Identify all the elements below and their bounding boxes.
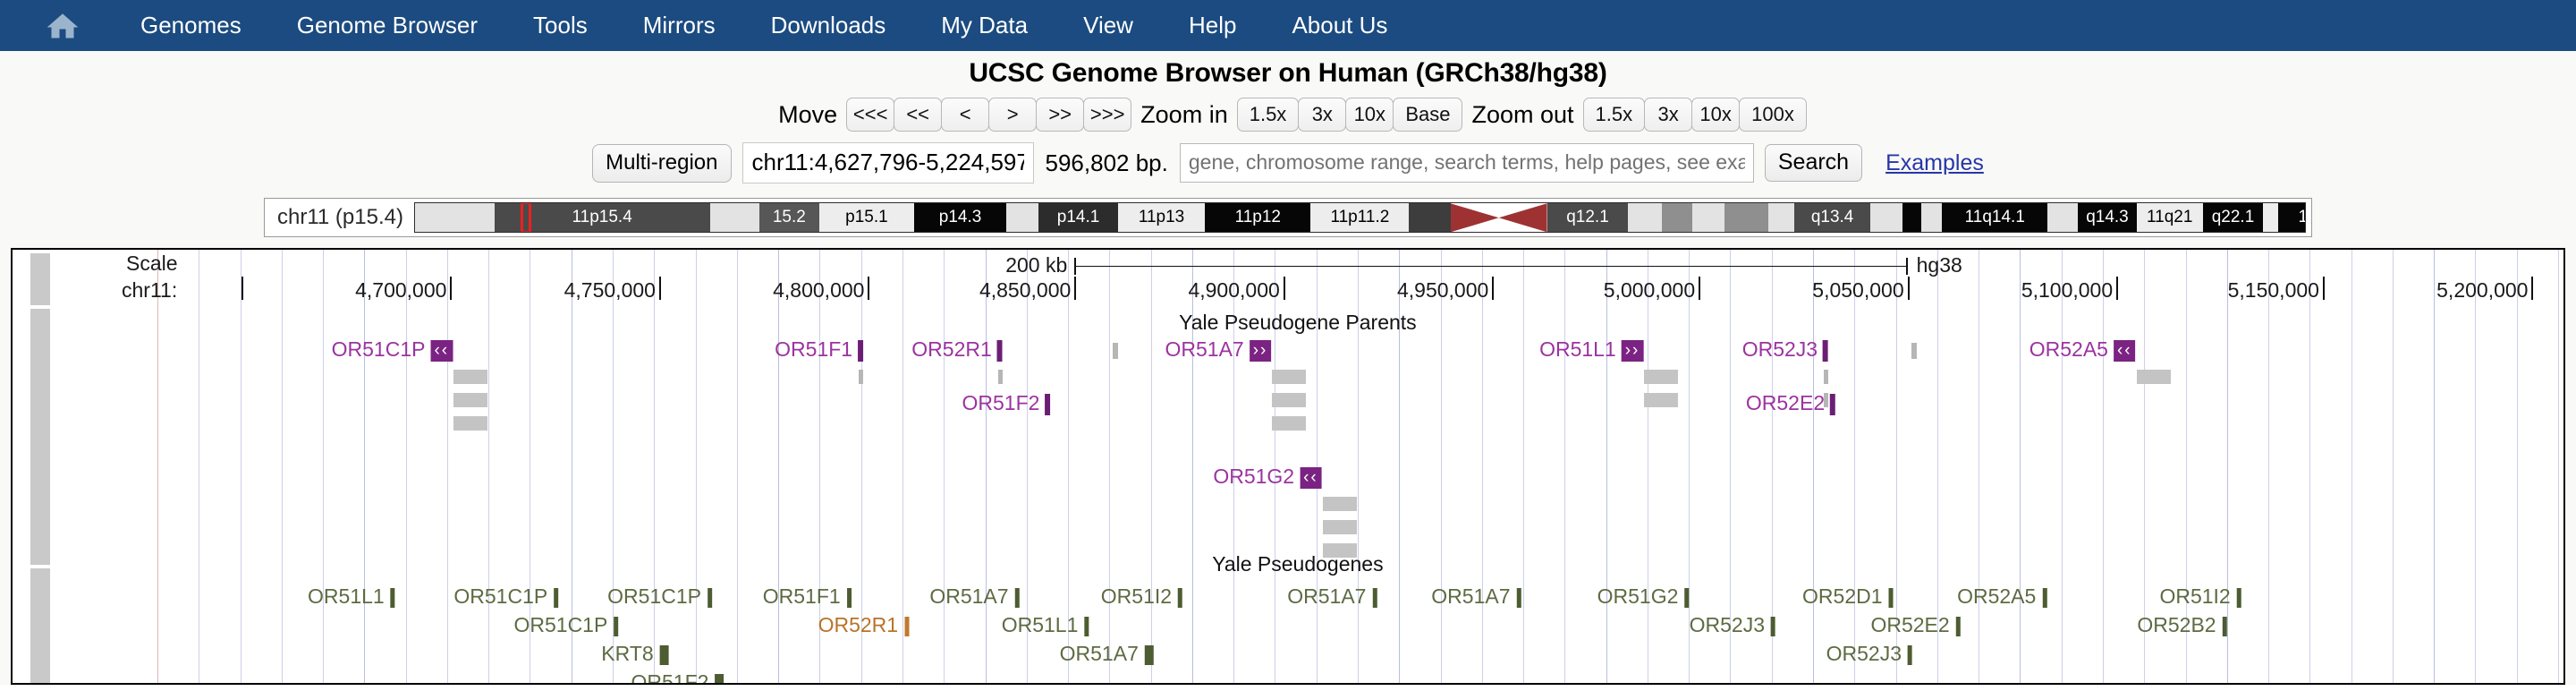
pseudogene-bar [1015,588,1020,608]
ruler-tick-mark [659,277,661,300]
pseudogene-label: OR52J3 [1826,642,1902,665]
pseudogene-label: OR51F1 [763,584,841,608]
ideogram-band-q13.4: q13.4 [1794,203,1870,232]
examples-link[interactable]: Examples [1885,150,1984,176]
zoom-in-button-1.5x[interactable]: 1.5x [1237,98,1300,132]
ideogram-band [415,203,495,232]
ideogram-band [1662,203,1692,232]
ideogram-band [1724,203,1768,232]
alignment-block [1644,393,1678,407]
multi-region-button[interactable]: Multi-region [592,144,731,183]
pseudogene-feature-or52e2[interactable]: OR52E2 [1870,613,1960,637]
ideogram-bands[interactable]: 11p15.415.2p15.1p14.3p14.111p1311p1211p1… [414,202,2306,233]
grid-line [737,250,738,683]
drag-handle-pseudogene-parents[interactable] [30,309,50,565]
pseudogene-label: OR52B2 [2137,613,2216,636]
grid-line [1854,250,1855,683]
pseudogene-feature-or51f1[interactable]: OR51F1 [763,584,852,609]
ideogram-band-11q21: 11q21 [2137,203,2203,232]
pseudogene-bar [660,645,669,665]
pseudogene-bar [1889,588,1894,608]
grid-line [1606,250,1607,683]
gene-tick-bar [1830,394,1835,415]
grid-line [364,250,365,683]
ruler-tick-label: 5,050,000 [1812,278,1903,303]
pseudogene-bar [1956,617,1961,636]
ruler-tick-mark [1699,277,1700,300]
pseudogene-label: OR51A7 [929,584,1008,608]
gene-feature-or52a5[interactable]: OR52A5‹‹ [2029,337,2136,362]
top-navigation-bar: GenomesGenome BrowserToolsMirrorsDownloa… [0,0,2576,51]
grid-line [2103,250,2104,683]
gene-feature-or51l1[interactable]: OR51L1›› [1539,337,1643,362]
gene-feature-or52e2[interactable]: OR52E2 [1746,391,1835,415]
grid-line [1151,250,1152,683]
pseudogene-feature-or51a7[interactable]: OR51A7 [1287,584,1377,609]
pseudogene-feature-or52j3[interactable]: OR52J3 [1826,642,1912,666]
gene-label: OR52J3 [1742,337,1823,361]
ruler-tick-label: 4,750,000 [564,278,656,303]
pseudogene-label: OR52R1 [818,613,898,636]
alignment-block [1272,416,1306,431]
gene-feature-tick[interactable] [1113,337,1118,362]
zoom-in-button-group: 1.5x3x10xBase [1237,98,1463,132]
pseudogene-label: OR51L1 [1002,613,1079,636]
zoom-out-button-3x[interactable]: 3x [1644,98,1692,132]
move-button-x[interactable]: > [988,98,1037,132]
pseudogene-bar [1908,645,1912,665]
zoom-out-button-1.5x[interactable]: 1.5x [1583,98,1646,132]
nav-item-genomes[interactable]: Genomes [113,12,269,39]
gene-tick-bar [1045,394,1050,415]
alignment-block [2137,370,2171,384]
zoom-out-button-10x[interactable]: 10x [1691,98,1740,132]
search-button[interactable]: Search [1765,144,1862,182]
ruler-tick-mark [1492,277,1494,300]
grid-line [323,250,324,683]
ideogram-band [1768,203,1795,232]
alignment-block [1644,370,1678,384]
ruler-tick-label: 5,000,000 [1604,278,1695,303]
pseudogene-label: OR51F2 [631,670,708,685]
pseudogene-label: OR52J3 [1690,613,1765,636]
alignment-block [1323,520,1357,534]
ruler-tick-mark [450,277,452,300]
nav-item-my-data[interactable]: My Data [913,12,1055,39]
pseudogene-bar [1145,645,1154,665]
ideogram-band [1902,203,1921,232]
alignment-block [1824,370,1828,384]
ideogram-band [1692,203,1724,232]
ideogram-band-11q22.3: 11q22.3 [2278,203,2306,232]
gene-tick-bar [858,340,863,362]
pseudogene-label: OR51G2 [1597,584,1679,608]
pseudogene-bar [391,588,395,608]
ideogram-band-11p13: 11p13 [1118,203,1205,232]
pseudogene-bar [554,588,558,608]
ruler-tick-mark [241,277,243,300]
nav-item-mirrors[interactable]: Mirrors [615,12,743,39]
ideogram-band [1870,203,1902,232]
ideogram-band-q12.1: q12.1 [1547,203,1629,232]
pseudogene-feature-or51g2[interactable]: OR51G2 [1597,584,1690,609]
ideogram-band-11p12: 11p12 [1205,203,1310,232]
pseudogene-bar [2237,588,2241,608]
chrom-label: chr11: [122,278,177,303]
pseudogene-label: OR51I2 [1101,584,1172,608]
pseudogene-bar [847,588,852,608]
ideogram-band [1628,203,1662,232]
pseudogene-feature-krt8[interactable]: KRT8 [601,642,668,666]
zoom-in-label: Zoom in [1131,101,1237,129]
pseudogene-label: OR51A7 [1287,584,1366,608]
alignment-block [453,416,487,431]
gene-label: OR52R1 [911,337,996,361]
grid-line [2309,250,2310,683]
alignment-block [1272,393,1306,407]
ruler-tick-mark [868,277,869,300]
gene-label: OR51G2 [1213,465,1300,488]
scale-label: Scale [126,252,178,276]
grid-line [696,250,697,683]
grid-line [778,250,779,683]
scale-bar-text: 200 kb [1005,253,1067,277]
page-title: UCSC Genome Browser on Human (GRCh38/hg3… [0,51,2576,89]
drag-handle-pseudogenes[interactable] [30,568,50,683]
move-button-xx[interactable]: >> [1036,98,1084,132]
pseudogene-feature-or52a5[interactable]: OR52A5 [1957,584,2046,609]
ruler-tick-label: 4,800,000 [773,278,864,303]
gene-label: OR52E2 [1746,391,1830,414]
gene-label: OR51C1P [332,337,431,361]
gene-feature-or51g2[interactable]: OR51G2‹‹ [1213,465,1321,489]
grid-line [1813,250,1814,683]
gene-exon-box: ›› [1250,340,1272,362]
gene-feature-or51f1[interactable]: OR51F1 [775,337,863,362]
gene-feature-or52r1[interactable]: OR52R1 [911,337,1002,362]
grid-line [447,250,448,683]
pseudogene-bar [614,617,618,636]
alignment-block [859,370,863,384]
pseudogene-feature-or51c1p[interactable]: OR51C1P [513,613,618,637]
scale-bar [1074,266,1907,267]
grid-line [1109,250,1110,683]
ruler-tick-label: 5,200,000 [2436,278,2528,303]
ideogram-band-11q14.1: 11q14.1 [1942,203,2047,232]
ideogram-band [710,203,759,232]
grid-line [241,250,241,683]
track-left-separator [157,250,158,683]
navigation-controls-row: Move <<<<<<>>>>>> Zoom in 1.5x3x10xBase … [0,98,2576,132]
pseudogene-label: OR51C1P [607,584,701,608]
ruler-tick-mark [1908,277,1910,300]
grid-line [2062,250,2063,683]
gene-label: OR51F2 [962,391,1046,414]
alignment-block [453,393,487,407]
ideogram-band [1006,203,1038,232]
nav-items: GenomesGenome BrowserToolsMirrorsDownloa… [113,12,1415,39]
pseudogene-bar [1771,617,1775,636]
grid-line [2020,250,2021,683]
ideogram-band-p14.3: p14.3 [914,203,1007,232]
pseudogene-bar [2042,588,2046,608]
ideogram-band [2263,203,2278,232]
move-button-xxx[interactable]: >>> [1083,98,1131,132]
zoom-out-button-100x[interactable]: 100x [1739,98,1807,132]
ruler-tick-mark [1074,277,1076,300]
gene-exon-box: ‹‹ [430,340,453,362]
ideogram-band [1409,203,1450,232]
ruler-tick-mark [2323,277,2325,300]
scale-ruler: Scale chr11: 200 kb hg38 4,700,0004,750,… [13,250,2563,312]
pseudogene-feature-or52r1[interactable]: OR52R1 [818,613,909,637]
grid-line [2393,250,2394,683]
ruler-tick-label: 4,700,000 [355,278,446,303]
grid-line [986,250,987,683]
ideogram-position-marker [521,202,531,233]
nav-item-genome-browser[interactable]: Genome Browser [269,12,505,39]
pseudogene-label: KRT8 [601,642,653,665]
pseudogene-feature-or51c1p[interactable]: OR51C1P [607,584,712,609]
pseudogene-bar [1517,588,1521,608]
ruler-tick-label: 5,100,000 [2021,278,2113,303]
pseudogene-label: OR52E2 [1870,613,1949,636]
grid-line [1564,250,1565,683]
pseudogene-feature-or51f2[interactable]: OR51F2 [631,670,724,685]
nav-item-help[interactable]: Help [1161,12,1264,39]
grid-line [282,250,283,683]
pseudogene-feature-or51l1[interactable]: OR51L1 [1002,613,1089,637]
gene-exon-box: ‹‹ [2114,340,2136,362]
move-label: Move [769,101,846,129]
ideogram-band [1921,203,1942,232]
move-button-xxx[interactable]: <<< [846,98,894,132]
alignment-block [453,370,487,384]
ruler-tick-label: 4,950,000 [1397,278,1488,303]
grid-line [654,250,655,683]
ideogram-band-q22.1: q22.1 [2203,203,2264,232]
genome-track-panel[interactable]: Scale chr11: 200 kb hg38 4,700,0004,750,… [11,248,2565,685]
ruler-tick-label: 4,850,000 [979,278,1071,303]
ideogram-label: chr11 (p15.4) [265,205,414,230]
pseudogene-feature-or51i2[interactable]: OR51I2 [2159,584,2241,609]
gene-feature-or52j3[interactable]: OR52J3 [1742,337,1828,362]
track-title-yale-pseudogene-parents: Yale Pseudogene Parents [1179,311,1417,335]
ideogram-band [1451,203,1547,232]
nav-item-about-us[interactable]: About Us [1264,12,1415,39]
zoom-in-button-3x[interactable]: 3x [1298,98,1346,132]
gene-label: OR51L1 [1539,337,1622,361]
pseudogene-feature-or51a7[interactable]: OR51A7 [929,584,1019,609]
pseudogene-label: OR52D1 [1802,584,1882,608]
ideogram-band-15.2: 15.2 [759,203,820,232]
grid-line [2351,250,2352,683]
grid-line [944,250,945,683]
pseudogene-label: OR51C1P [453,584,547,608]
alignment-block [998,370,1003,384]
ruler-tick-mark [2116,277,2118,300]
pseudogene-feature-or51a7[interactable]: OR51A7 [1060,642,1154,666]
grid-line [2475,250,2476,683]
gene-tick-bar [1113,343,1118,359]
gene-exon-box: ‹‹ [1300,467,1322,489]
pseudogene-bar [1178,588,1182,608]
pseudogene-bar [708,588,712,608]
ideogram-band-11p11.2: 11p11.2 [1310,203,1409,232]
position-input[interactable] [742,142,1034,183]
chromosome-ideogram[interactable]: chr11 (p15.4) 11p15.415.2p15.1p14.3p14.1… [264,198,2312,237]
search-input[interactable] [1180,143,1754,183]
track-title-yale-pseudogenes: Yale Pseudogenes [1212,552,1383,576]
gene-label: OR51A7 [1165,337,1250,361]
pseudogene-bar [1684,588,1689,608]
ideogram-band-q14.3: q14.3 [2078,203,2137,232]
pseudogene-feature-or51a7[interactable]: OR51A7 [1431,584,1521,609]
home-icon[interactable] [41,8,84,44]
pseudogene-feature-or51c1p[interactable]: OR51C1P [453,584,558,609]
pseudogene-feature-or51i2[interactable]: OR51I2 [1101,584,1182,609]
gene-label: OR52A5 [2029,337,2114,361]
pseudogene-label: OR52A5 [1957,584,2036,608]
move-button-x[interactable]: < [941,98,989,132]
gene-label: OR51F1 [775,337,858,361]
ruler-tick-label: 5,150,000 [2228,278,2319,303]
zoom-out-label: Zoom out [1462,101,1582,129]
assembly-label: hg38 [1917,253,1962,277]
pseudogene-feature-or52j3[interactable]: OR52J3 [1690,613,1775,637]
pseudogene-label: OR51A7 [1060,642,1139,665]
gene-feature-tick[interactable] [1911,337,1917,362]
grid-line [406,250,407,683]
pseudogene-label: OR51A7 [1431,584,1510,608]
pseudogene-bar [1372,588,1377,608]
gene-feature-or51f2[interactable]: OR51F2 [962,391,1051,415]
grid-line [1979,250,1979,683]
zoom-in-button-10x[interactable]: 10x [1345,98,1394,132]
grid-line [2517,250,2518,683]
gene-tick-bar [1911,343,1917,359]
gene-tick-bar [1823,340,1828,362]
pseudogene-label: OR51L1 [308,584,385,608]
grid-line [2434,250,2435,683]
ideogram-band [2047,203,2078,232]
ruler-tick-label: 4,900,000 [1188,278,1279,303]
pseudogene-bar [1084,617,1089,636]
pseudogene-feature-or52d1[interactable]: OR52D1 [1802,584,1893,609]
grid-line [199,250,199,683]
pseudogene-feature-or51l1[interactable]: OR51L1 [308,584,395,609]
gene-feature-or51c1p[interactable]: OR51C1P‹‹ [332,337,453,362]
pseudogene-label: OR51I2 [2159,584,2230,608]
ideogram-band-p15.1: p15.1 [819,203,914,232]
gene-exon-box: ›› [1622,340,1644,362]
nav-item-tools[interactable]: Tools [505,12,615,39]
zoom-in-button-base[interactable]: Base [1393,98,1462,132]
pseudogene-bar [904,617,909,636]
pseudogene-feature-or52b2[interactable]: OR52B2 [2137,613,2226,637]
grid-line [2227,250,2228,683]
pseudogene-bar [715,674,724,685]
grid-line [1523,250,1524,683]
alignment-block [1323,497,1357,511]
ruler-tick-mark [1284,277,1285,300]
gene-feature-or51a7[interactable]: OR51A7›› [1165,337,1272,362]
grid-line [2268,250,2269,683]
grid-line [1648,250,1648,683]
nav-item-view[interactable]: View [1055,12,1161,39]
pseudogene-label: OR51C1P [513,613,607,636]
grid-line [488,250,489,683]
grid-line [1482,250,1483,683]
move-button-group: <<<<<<>>>>>> [846,98,1131,132]
alignment-block [1272,370,1306,384]
position-search-row: Multi-region 596,802 bp. Search Examples [0,142,2576,183]
ruler-tick-mark [2531,277,2533,300]
gene-tick-bar [997,340,1003,362]
base-pair-count: 596,802 bp. [1034,149,1180,177]
move-button-xx[interactable]: << [894,98,942,132]
pseudogene-bar [2223,617,2227,636]
grid-line [1441,250,1442,683]
zoom-out-button-group: 1.5x3x10x100x [1583,98,1807,132]
nav-item-downloads[interactable]: Downloads [743,12,914,39]
ideogram-band-p14.1: p14.1 [1038,203,1118,232]
grid-line [2558,250,2559,683]
